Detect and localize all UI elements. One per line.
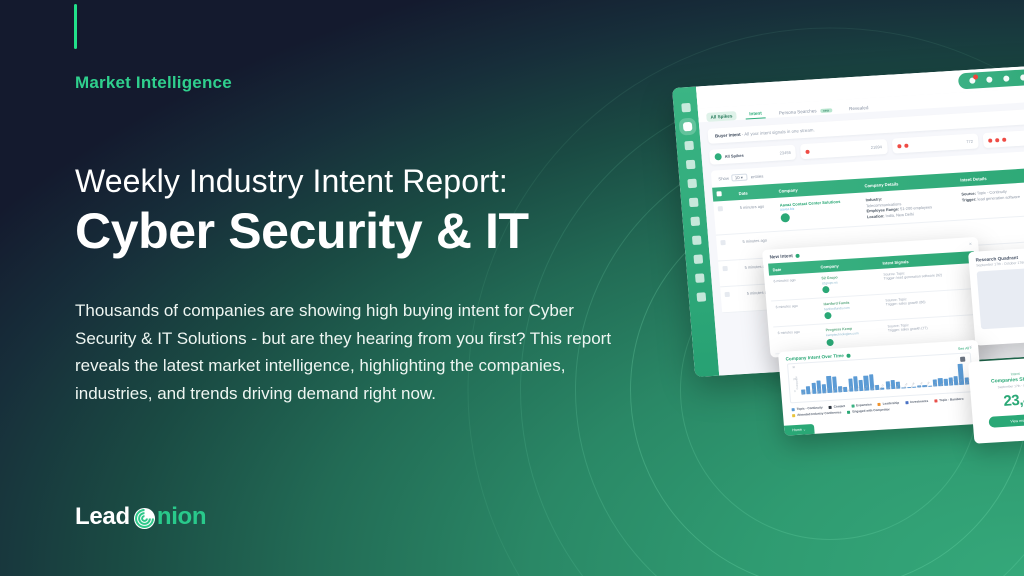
chip-value: 23455 <box>779 150 791 156</box>
legend-item[interactable]: Attended Industry Conference <box>792 410 842 417</box>
chart-bar <box>853 376 858 391</box>
chart-bar <box>848 378 853 391</box>
legend-swatch <box>934 399 937 402</box>
row-signals: Source: Topic Trigger: sales growth (86) <box>881 293 978 316</box>
row-date: 5 minutes ago <box>740 262 781 279</box>
view-more-button[interactable]: View more <box>988 413 1024 428</box>
vertical-scrollbar[interactable] <box>974 253 983 333</box>
trigger-value: sales growth (77) <box>901 326 928 332</box>
entries-suffix: entries <box>751 174 764 180</box>
intent-table: Date Company Company Details Intent Deta… <box>712 166 1024 313</box>
industry-value: Telecommunications <box>866 198 954 209</box>
legend-item[interactable]: Topic - Bamboro <box>934 397 964 403</box>
company-url[interactable]: kemptechnologies.com <box>826 330 880 337</box>
chart-bar <box>806 386 811 395</box>
legend-label: Attended Industry Conference <box>797 410 842 417</box>
chart-xtick: Jun 04 <box>974 379 983 388</box>
source-label: Source: <box>961 191 976 197</box>
chart-xtick: Jun 11 <box>981 378 984 387</box>
chip-value: 772 <box>966 139 973 144</box>
chart-xtick: May 21 <box>957 379 967 389</box>
chart-bar <box>958 364 964 385</box>
row-date: 5 minutes ago <box>738 236 779 253</box>
buyer-intent-note: Buyer Intent - All your intent signals i… <box>707 107 1024 144</box>
chart-bar <box>859 380 864 391</box>
select-all-checkbox[interactable] <box>712 190 734 197</box>
location-value: India, New Delhi <box>885 211 914 218</box>
chart-bar <box>875 385 880 390</box>
info-icon <box>847 353 851 357</box>
legend-label: Engaged with Competitor <box>852 407 890 413</box>
chart-xtick: Apr 23 <box>926 382 935 391</box>
chart-bar <box>954 376 959 386</box>
column-intent-signals: Intent Signals <box>878 255 974 266</box>
company-intent-chart-window: ✕ Company Intent Over Time See All › Com… <box>778 340 984 436</box>
row-intent-details: Source: Topic - Continuity Trigger: lead… <box>957 185 1024 215</box>
legend-item[interactable]: Investments <box>905 399 928 404</box>
row-date: 5 minutes ago <box>742 288 783 305</box>
sidebar-icon-search-icon[interactable] <box>685 160 695 170</box>
column-intent-details[interactable]: Intent Details <box>956 170 1024 182</box>
chart-bar <box>938 378 943 387</box>
chart-title-text: Company Intent Over Time <box>785 353 844 362</box>
chart-xtick: Jan 22 <box>824 388 833 397</box>
legend-swatch <box>905 401 908 404</box>
list-item[interactable]: 6 minutes ago S2 Grupo s2grupo.es Source… <box>769 263 977 302</box>
tab-all-spikes[interactable]: All Spikes <box>706 111 737 122</box>
chart-xtick: Jan 15 <box>817 388 826 397</box>
research-title: Research Quadrant <box>968 246 1024 264</box>
header-action-pill[interactable] <box>958 67 1024 90</box>
source-value: Topic - Continuity <box>977 189 1007 196</box>
chart-plot-area: Companies 30 20 0 Jan 01Jan 08Jan 15Jan … <box>787 352 974 403</box>
red-dot-icon <box>988 138 992 142</box>
row-checkbox[interactable] <box>716 239 739 255</box>
company-name[interactable]: S2 Grupo <box>821 273 875 281</box>
legend-item[interactable]: Expansion <box>851 402 872 407</box>
chart-bars <box>799 356 969 394</box>
logo-text-lead: Lead <box>75 503 130 531</box>
chart-xtick: Feb 26 <box>863 385 873 395</box>
legend-swatch <box>829 405 832 408</box>
chart-bar <box>933 380 938 387</box>
close-icon[interactable]: ✕ <box>969 344 973 349</box>
chart-bar <box>902 387 906 388</box>
legend-item[interactable]: Contact <box>828 404 845 409</box>
sidebar-icon-briefcase-icon[interactable] <box>682 122 692 132</box>
dashboard-header <box>696 64 1024 109</box>
chart-bar <box>822 384 827 394</box>
row-date: 6 minutes ago <box>774 329 823 349</box>
stat-chip-all-spikes[interactable]: All Spikes 23455 <box>709 145 796 165</box>
legend-swatch <box>851 404 854 407</box>
legend-swatch <box>847 410 850 413</box>
red-dot-icon <box>897 144 901 148</box>
buyer-intent-title: Buyer Intent <box>715 132 741 139</box>
red-dot-icon <box>806 149 810 153</box>
chart-menu-icon[interactable] <box>960 357 965 362</box>
legend-label: Investments <box>910 399 928 404</box>
chart-bar <box>838 387 843 393</box>
tab-persona-label: Persona Searches <box>779 108 817 115</box>
legend-label: Topic - Bamboro <box>939 397 964 402</box>
chart-xtick: May 28 <box>965 379 975 389</box>
row-date: 5 minutes ago <box>736 203 778 228</box>
company-logo <box>822 286 830 293</box>
stat-number: 23,4 <box>970 385 1024 412</box>
column-company-details[interactable]: Company Details <box>860 177 956 188</box>
gear-icon[interactable] <box>1020 74 1024 80</box>
stat-kicker: Intent <box>968 356 1024 379</box>
red-dot-icon <box>995 138 999 142</box>
new-intent-window: ✕ New Intent Date Company Intent Signals… <box>762 237 986 358</box>
company-name[interactable]: Progress Kemp <box>826 325 880 333</box>
entries-selector[interactable]: Show 10 ▾ entries <box>711 149 1024 188</box>
entries-dropdown[interactable]: 10 ▾ <box>732 174 748 182</box>
sidebar-icon-database-icon[interactable] <box>693 254 703 264</box>
body-paragraph: Thousands of companies are showing high … <box>75 297 615 407</box>
chart-bar <box>948 377 953 386</box>
chart-bar <box>864 376 869 391</box>
chart-xtick: Feb 19 <box>856 386 866 396</box>
research-chart-placeholder <box>977 267 1024 330</box>
company-name[interactable]: Aavaz Contact Center Solutions <box>780 198 858 208</box>
chart-bar <box>964 377 969 385</box>
stat-chip-row: All Spikes 23455 21894 772 603 <box>709 128 1024 165</box>
see-all-link[interactable]: See All › <box>958 346 972 351</box>
chat-icon[interactable] <box>969 77 975 83</box>
chart-bar <box>912 387 916 388</box>
column-company[interactable]: Company <box>774 183 860 193</box>
chart-xtick: Jan 08 <box>809 389 818 398</box>
new-intent-header-row: Date Company Intent Signals <box>768 251 975 276</box>
onion-spiral-icon <box>133 507 156 530</box>
row-checkbox[interactable] <box>721 291 744 307</box>
chart-xtick: May 07 <box>941 380 951 390</box>
company-url[interactable]: s2grupo.es <box>822 278 876 285</box>
chip-label: All Spikes <box>724 153 743 159</box>
trigger-label: Trigger: <box>884 276 896 281</box>
sidebar-icon-filter-icon[interactable] <box>691 236 701 246</box>
chart-xtick: May 14 <box>949 380 959 390</box>
chart-bar <box>890 380 895 390</box>
company-url[interactable]: aavaz.biz <box>780 203 858 212</box>
chart-bar <box>923 385 927 387</box>
table-header-row: Date Company Company Details Intent Deta… <box>712 166 1024 202</box>
logo-text-nion: nion <box>157 503 206 531</box>
chip-value: 21894 <box>871 144 883 150</box>
trigger-label: Trigger: <box>888 328 900 333</box>
location-label: Location: <box>867 213 885 219</box>
chart-xtick: Mar 05 <box>871 385 881 395</box>
stat-chip-3[interactable]: 603 <box>982 128 1024 148</box>
stat-title: Companies Showing <box>969 373 1024 386</box>
tab-intent[interactable]: Intent <box>745 108 766 119</box>
chart-bar <box>827 376 833 393</box>
row-checkbox[interactable] <box>714 205 738 229</box>
row-date: 6 minutes ago <box>771 303 820 323</box>
source-label: Source: <box>885 298 897 303</box>
sidebar-icon-bolt-icon[interactable] <box>684 141 694 151</box>
column-date: Date <box>768 264 816 272</box>
chart-xtick: Feb 05 <box>840 387 850 397</box>
sidebar-icon-grid-icon[interactable] <box>681 103 691 113</box>
research-subtitle: September 17th - October 17th <box>969 258 1024 272</box>
new-intent-label: New Intent <box>769 253 793 259</box>
sidebar-icon-cloud-icon[interactable] <box>687 179 697 189</box>
chart-ylabel: Companies <box>795 376 799 389</box>
stat-chip-2[interactable]: 772 <box>891 133 978 153</box>
dashboard-tabs[interactable]: All Spikes Intent Persona Searches new R… <box>698 86 1024 123</box>
eyebrow-label: Market Intelligence <box>75 73 232 93</box>
sidebar-icon-layers-icon[interactable] <box>690 217 700 227</box>
legend-swatch <box>792 414 795 417</box>
row-company: Aavaz Contact Center Solutions aavaz.biz <box>776 198 864 226</box>
legend-label: Contact <box>833 404 845 409</box>
tab-revealed[interactable]: Revealed <box>845 102 873 113</box>
red-dot-icon <box>1002 137 1006 141</box>
chart-bar <box>896 381 901 389</box>
company-logo <box>780 213 790 223</box>
legend-label: Topic - Continuity <box>796 405 822 411</box>
trigger-value: lead generation software <box>977 194 1020 202</box>
source-value: Topic <box>898 297 906 301</box>
company-name[interactable]: Hartford Funds <box>823 299 877 307</box>
chart-bar <box>869 374 874 390</box>
buyer-intent-text: - All your intent signals in one stream. <box>742 127 815 136</box>
see-all-label: See All <box>958 346 970 351</box>
chart-xtick: Apr 30 <box>933 381 942 390</box>
chart-bar <box>843 387 848 392</box>
close-icon[interactable]: ✕ <box>969 241 973 246</box>
page-title: Weekly Industry Intent Report: Cyber Sec… <box>75 163 655 259</box>
accent-bar <box>74 4 77 49</box>
table-row[interactable]: 5 minutes ago <box>720 265 1024 313</box>
stat-subtitle: September 17th - October <box>970 380 1024 391</box>
show-label: Show <box>718 176 729 182</box>
employee-value: 51-200 employees <box>900 205 932 212</box>
table-row[interactable]: 5 minutes ago Aavaz Contact Center Solut… <box>713 180 1024 235</box>
row-signals: Source: Topic Trigger: sales growth (77) <box>883 319 980 342</box>
title-line-2: Cyber Security & IT <box>75 203 655 259</box>
chart-bar <box>811 383 816 394</box>
entries-value: 10 <box>735 175 740 180</box>
chart-legend: Topic - ContinuityContactExpansionLeader… <box>782 392 983 418</box>
trigger-value: lead generation software (92) <box>896 273 942 280</box>
trigger-label: Trigger: <box>962 196 977 202</box>
chart-bar <box>816 380 821 393</box>
research-quadrant-window: ✕ Research Quadrant September 17th - Oct… <box>968 246 1024 346</box>
chart-bar <box>907 387 911 388</box>
chart-xtick: Mar 26 <box>895 383 905 393</box>
column-date[interactable]: Date <box>734 188 774 195</box>
sidebar-icon-people-icon[interactable] <box>688 198 698 208</box>
source-value: Topic <box>900 324 908 328</box>
legend-item[interactable]: Leadership <box>878 401 900 406</box>
list-item[interactable]: 6 minutes ago Progress Kemp kemptechnolo… <box>773 315 981 354</box>
chart-xtick: Mar 19 <box>887 384 897 394</box>
row-company: Progress Kemp kemptechnologies.com <box>822 325 885 346</box>
chart-xtick: Apr 16 <box>918 382 927 391</box>
table-row[interactable]: 5 minutes ago <box>716 213 1024 261</box>
industry-label: Industry: <box>865 196 882 202</box>
companies-showing-stat-card: Intent Companies Showing September 17th … <box>968 356 1024 443</box>
legend-item[interactable]: Topic - Continuity <box>791 405 822 411</box>
chart-xtick: Jan 29 <box>832 387 841 396</box>
source-label: Source: <box>887 324 899 329</box>
chart-ytick: 0 <box>794 390 796 393</box>
help-icon[interactable] <box>1003 75 1009 81</box>
chart-xtick: Apr 09 <box>910 383 919 392</box>
chart-bar <box>880 388 884 390</box>
table-row[interactable]: 5 minutes ago <box>718 239 1024 287</box>
column-company: Company <box>816 260 878 269</box>
chart-xtick: Jan 01 <box>801 389 810 398</box>
sidebar-icon-box-icon[interactable] <box>696 292 706 302</box>
chart-title: Company Intent Over Time <box>785 353 851 362</box>
chart-bar <box>917 385 921 387</box>
row-company: S2 Grupo s2grupo.es <box>817 273 880 294</box>
red-dot-icon <box>904 143 908 147</box>
logo: Lead nion <box>75 503 206 531</box>
trigger-value: sales growth (86) <box>899 300 926 306</box>
chart-xtick: Mar 12 <box>879 384 889 394</box>
legend-label: Expansion <box>856 402 872 407</box>
chart-header: Company Intent Over Time See All › <box>778 340 979 364</box>
tab-persona-searches[interactable]: Persona Searches new <box>774 105 836 118</box>
chart-xtick: Apr 02 <box>903 383 912 392</box>
green-dot-icon <box>714 153 722 160</box>
chart-bar <box>832 377 837 393</box>
company-logo <box>824 312 832 319</box>
sidebar-icon-card-icon[interactable] <box>694 273 704 283</box>
title-line-1: Weekly Industry Intent Report: <box>75 163 655 200</box>
legend-label: Leadership <box>883 401 900 406</box>
row-date: 6 minutes ago <box>769 277 818 297</box>
chart-ytick: 30 <box>792 366 795 369</box>
home-breadcrumb[interactable]: Home ⌄ <box>784 424 814 436</box>
chart-bar <box>928 386 932 387</box>
row-signals: Source: Topic Trigger: lead generation s… <box>879 267 976 290</box>
row-checkbox[interactable] <box>718 265 741 281</box>
chart-xtick: Feb 12 <box>848 386 858 396</box>
dashboard-sidebar[interactable] <box>672 87 719 378</box>
info-icon <box>796 253 800 257</box>
home-label: Home <box>792 428 802 433</box>
chart-xlabels: Jan 01Jan 08Jan 15Jan 22Jan 29Feb 05Feb … <box>801 384 969 401</box>
chart-bar <box>885 381 890 390</box>
tab-persona-badge: new <box>820 108 833 113</box>
new-intent-title: New Intent <box>762 237 979 264</box>
legend-swatch <box>792 408 795 411</box>
employee-label: Employee Range: <box>866 207 899 214</box>
company-logo <box>826 338 834 345</box>
dashboard-window-main: All Spikes Intent Persona Searches new R… <box>672 64 1024 377</box>
chart-bar <box>801 390 806 395</box>
row-company: Hartford Funds hartfordfunds.com <box>819 299 882 320</box>
slide-canvas: Market Intelligence Weekly Industry Inte… <box>0 0 1024 576</box>
row-company-details: Industry: Telecommunications Employee Ra… <box>861 192 959 220</box>
source-value: Topic <box>896 271 904 275</box>
chart-ytick: 20 <box>793 378 796 381</box>
stat-chip-1[interactable]: 21894 <box>800 139 887 159</box>
legend-item[interactable]: Engaged with Competitor <box>847 407 890 414</box>
company-url[interactable]: hartfordfunds.com <box>824 304 878 311</box>
list-item[interactable]: 6 minutes ago Hartford Funds hartfordfun… <box>771 289 979 328</box>
bell-icon[interactable] <box>986 76 992 82</box>
trigger-label: Trigger: <box>886 302 898 307</box>
source-label: Source: <box>883 272 895 277</box>
chart-bar <box>943 379 948 386</box>
legend-swatch <box>878 402 881 405</box>
